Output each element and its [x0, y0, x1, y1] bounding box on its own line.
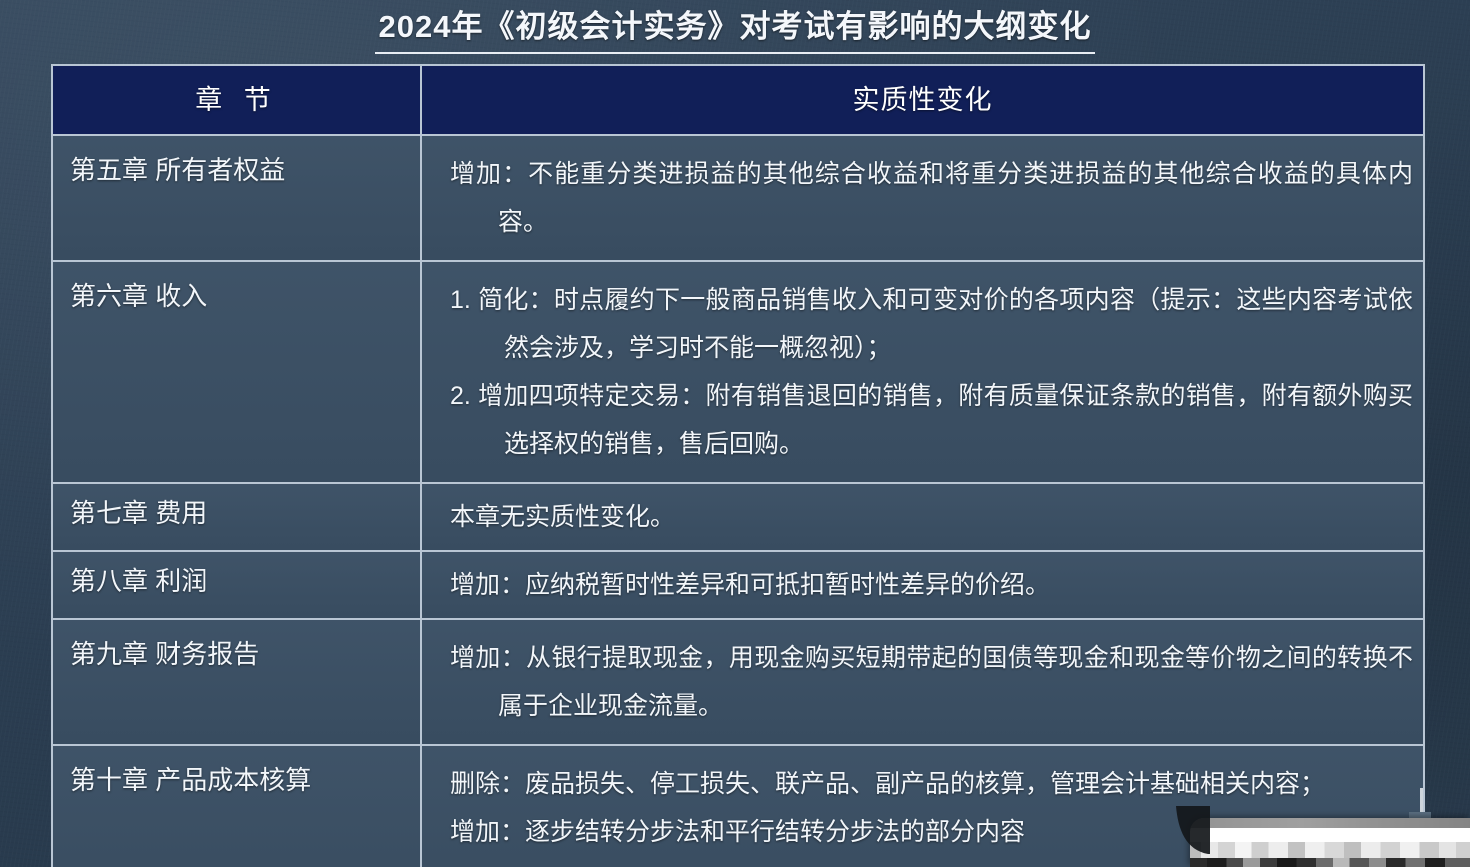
table-cell-chapter: 第九章 财务报告: [53, 620, 422, 744]
table-cell-chapter: 第六章 收入: [53, 262, 422, 482]
change-line: 本章无实质性变化。: [450, 493, 1413, 541]
chapter-label: 第八章 利润: [70, 561, 207, 601]
change-line: 增加：应纳税暂时性差异和可抵扣暂时性差异的价绍。: [450, 561, 1413, 609]
chapter-label: 第五章 所有者权益: [70, 150, 285, 190]
chapter-label: 第七章 费用: [70, 493, 207, 533]
table-header-label-chapter: 章 节: [195, 80, 278, 120]
outline-changes-table: 章 节 实质性变化 第五章 所有者权益 增加：不能重分类进损益的其他综合收益和将…: [51, 64, 1425, 867]
table-cell-change: 1. 简化：时点履约下一般商品销售收入和可变对价的各项内容（提示：这些内容考试依…: [422, 262, 1423, 482]
table-row: 第八章 利润 增加：应纳税暂时性差异和可抵扣暂时性差异的价绍。: [53, 552, 1425, 620]
table-cell-change: 增加：不能重分类进损益的其他综合收益和将重分类进损益的其他综合收益的具体内容。: [422, 136, 1423, 260]
change-line: 增加：从银行提取现金，用现金购买短期带起的国债等现金和现金等价物之间的转换不属于…: [450, 634, 1413, 730]
chapter-label: 第九章 财务报告: [70, 634, 259, 674]
page-title: 2024年《初级会计实务》对考试有影响的大纲变化: [375, 4, 1096, 54]
overlay-mosaic-dark: [1190, 858, 1470, 867]
chapter-label: 第六章 收入: [70, 276, 207, 316]
table-header-label-change: 实质性变化: [853, 80, 993, 120]
table-cell-change: 增加：从银行提取现金，用现金购买短期带起的国债等现金和现金等价物之间的转换不属于…: [422, 620, 1423, 744]
change-line: 2. 增加四项特定交易：附有销售退回的销售，附有质量保证条款的销售，附有额外购买…: [450, 372, 1413, 468]
table-cell-change: 本章无实质性变化。: [422, 484, 1423, 550]
table-header-cell-chapter: 章 节: [53, 66, 422, 134]
table-header-row: 章 节 实质性变化: [53, 66, 1425, 136]
table-row: 第五章 所有者权益 增加：不能重分类进损益的其他综合收益和将重分类进损益的其他综…: [53, 136, 1425, 262]
overlay-tick-mark: [1420, 788, 1423, 814]
table-cell-chapter: 第十章 产品成本核算: [53, 746, 422, 867]
table-cell-chapter: 第七章 费用: [53, 484, 422, 550]
table-row: 第七章 费用 本章无实质性变化。: [53, 484, 1425, 552]
change-line: 1. 简化：时点履约下一般商品销售收入和可变对价的各项内容（提示：这些内容考试依…: [450, 276, 1413, 372]
table-cell-chapter: 第五章 所有者权益: [53, 136, 422, 260]
change-line: 增加：不能重分类进损益的其他综合收益和将重分类进损益的其他综合收益的具体内容。: [450, 150, 1413, 246]
table-header-cell-change: 实质性变化: [422, 66, 1423, 134]
change-line: 删除：废品损失、停工损失、联产品、副产品的核算，管理会计基础相关内容；: [450, 760, 1413, 808]
chapter-label: 第十章 产品成本核算: [70, 760, 311, 800]
slide-canvas: 2024年《初级会计实务》对考试有影响的大纲变化 章 节 实质性变化 第五章 所…: [0, 0, 1470, 867]
table-row: 第六章 收入 1. 简化：时点履约下一般商品销售收入和可变对价的各项内容（提示：…: [53, 262, 1425, 484]
blurred-watermark-card: [1190, 818, 1470, 867]
page-title-container: 2024年《初级会计实务》对考试有影响的大纲变化: [0, 4, 1470, 54]
table-cell-change: 增加：应纳税暂时性差异和可抵扣暂时性差异的价绍。: [422, 552, 1423, 618]
overlay-bar: [1190, 818, 1470, 828]
table-cell-chapter: 第八章 利润: [53, 552, 422, 618]
table-row: 第九章 财务报告 增加：从银行提取现金，用现金购买短期带起的国债等现金和现金等价…: [53, 620, 1425, 746]
